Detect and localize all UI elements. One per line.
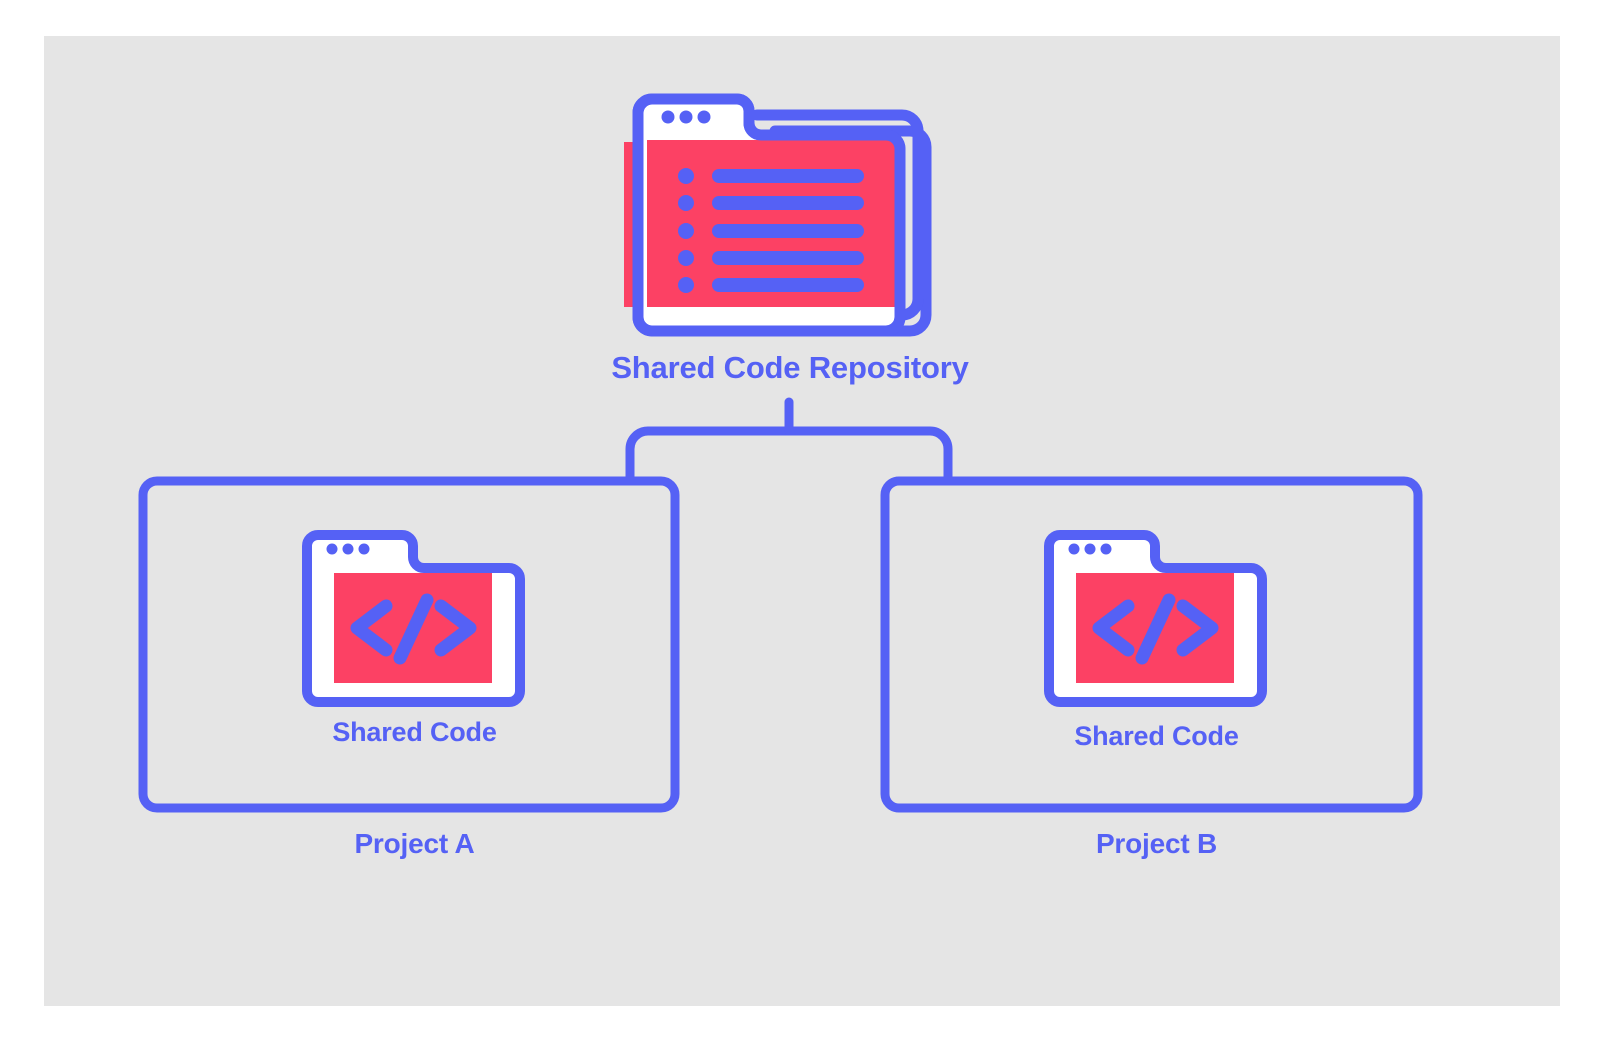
project-b-dot-2 — [1085, 544, 1096, 555]
connector-branch-left — [630, 431, 789, 481]
diagram-canvas: Shared Code Repository Shared Code Share… — [0, 0, 1600, 1046]
project-a-shared-code-icon[interactable] — [307, 535, 520, 702]
shared-code-repository-label: Shared Code Repository — [0, 350, 1580, 386]
project-b-dot-3 — [1101, 544, 1112, 555]
project-a-shared-code-label: Shared Code — [243, 717, 586, 748]
project-a-dot-3 — [359, 544, 370, 555]
project-b-shared-code-icon[interactable] — [1049, 535, 1262, 702]
project-b-shared-code-label: Shared Code — [985, 721, 1328, 752]
project-a-dot-1 — [327, 544, 338, 555]
shared-code-repository-icon[interactable] — [624, 99, 926, 331]
connector-branch-right — [789, 431, 948, 481]
repo-titlebar-dot-1 — [662, 111, 675, 124]
repo-titlebar-dot-2 — [680, 111, 693, 124]
project-b-label: Project B — [985, 828, 1328, 860]
project-a-dot-2 — [343, 544, 354, 555]
tree-connector — [630, 402, 948, 481]
project-a-label: Project A — [243, 828, 586, 860]
diagram-graphics — [0, 0, 1600, 1046]
project-b-dot-1 — [1069, 544, 1080, 555]
repo-titlebar-dot-3 — [698, 111, 711, 124]
